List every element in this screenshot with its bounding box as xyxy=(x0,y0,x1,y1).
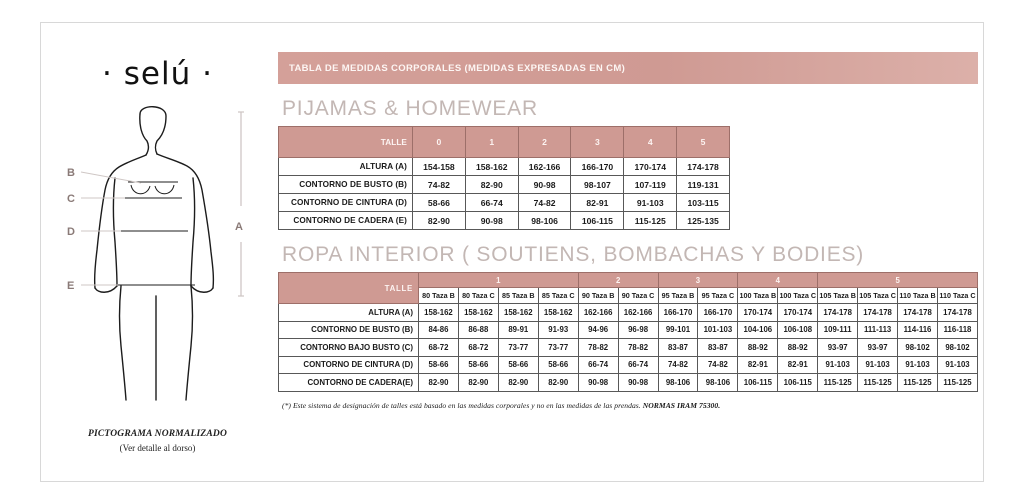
cell: 158-162 xyxy=(498,304,538,322)
cell: 90-98 xyxy=(578,374,618,392)
row-label: CONTORNO DE BUSTO (B) xyxy=(279,321,419,339)
cell: 125-135 xyxy=(677,212,730,230)
table-pijamas-corner-label: TALLE xyxy=(279,127,413,158)
cell: 82-90 xyxy=(498,374,538,392)
cell: 90-98 xyxy=(465,212,518,230)
cell: 109-111 xyxy=(818,321,858,339)
table-row: ALTURA (A) 154-158 158-162 162-166 166-1… xyxy=(279,158,730,176)
cup-header: 85 Taza C xyxy=(538,288,578,304)
cell: 91-93 xyxy=(538,321,578,339)
label-e: E xyxy=(67,280,74,292)
cell: 58-66 xyxy=(458,356,498,374)
cell: 115-125 xyxy=(818,374,858,392)
right-panel: TABLA DE MEDIDAS CORPORALES (MEDIDAS EXP… xyxy=(278,30,978,410)
cell: 93-97 xyxy=(818,339,858,357)
cup-header: 110 Taza C xyxy=(937,288,977,304)
footnote-bold: NORMAS IRAM 75300. xyxy=(643,401,721,410)
cell: 82-91 xyxy=(738,356,778,374)
cup-header: 100 Taza B xyxy=(738,288,778,304)
cell: 91-103 xyxy=(818,356,858,374)
cell: 58-66 xyxy=(498,356,538,374)
pictogram-caption: PICTOGRAMA NORMALIZADO (Ver detalle al d… xyxy=(45,428,270,455)
cell: 119-131 xyxy=(677,176,730,194)
table-ropa-interior-corner-label: TALLE xyxy=(279,273,419,304)
cell: 99-101 xyxy=(658,321,698,339)
cell: 162-166 xyxy=(618,304,658,322)
body-figure-svg: B C D E A xyxy=(45,100,270,420)
cell: 68-72 xyxy=(419,339,459,357)
cell: 66-74 xyxy=(578,356,618,374)
table-pijamas-col-5: 5 xyxy=(677,127,730,158)
cell: 158-162 xyxy=(419,304,459,322)
cell: 115-125 xyxy=(624,212,677,230)
table-pijamas-col-0: 0 xyxy=(413,127,466,158)
cell: 98-106 xyxy=(698,374,738,392)
group-header-2: 2 xyxy=(578,273,658,288)
section-title-ropa-interior: ROPA INTERIOR ( SOUTIENS, BOMBACHAS Y BO… xyxy=(282,243,978,267)
cell: 158-162 xyxy=(465,158,518,176)
pictogram-caption-main: PICTOGRAMA NORMALIZADO xyxy=(45,428,270,442)
group-header-4: 4 xyxy=(738,273,818,288)
cell: 115-125 xyxy=(898,374,938,392)
cell: 74-82 xyxy=(413,176,466,194)
table-pijamas-col-4: 4 xyxy=(624,127,677,158)
cell: 82-90 xyxy=(413,212,466,230)
cell: 106-115 xyxy=(571,212,624,230)
cell: 82-90 xyxy=(465,176,518,194)
cell: 162-166 xyxy=(518,158,571,176)
left-panel: · selú · xyxy=(45,30,270,475)
label-c: C xyxy=(67,193,75,205)
cell: 91-103 xyxy=(898,356,938,374)
cell: 170-174 xyxy=(738,304,778,322)
cell: 58-66 xyxy=(413,194,466,212)
cell: 111-113 xyxy=(858,321,898,339)
cell: 82-91 xyxy=(778,356,818,374)
row-label: CONTORNO DE BUSTO (B) xyxy=(279,176,413,194)
table-ropa-interior: TALLE 1 2 3 4 5 80 Taza B 80 Taza C 85 T… xyxy=(278,272,978,392)
footnote: (*) Este sistema de designación de talle… xyxy=(282,401,978,410)
table-row: CONTORNO DE BUSTO (B) 84-86 86-88 89-91 … xyxy=(279,321,978,339)
cell: 83-87 xyxy=(658,339,698,357)
table-row: ALTURA (A) 158-162 158-162 158-162 158-1… xyxy=(279,304,978,322)
table-row: CONTORNO DE BUSTO (B) 74-82 82-90 90-98 … xyxy=(279,176,730,194)
cell: 115-125 xyxy=(858,374,898,392)
cell: 91-103 xyxy=(858,356,898,374)
cell: 86-88 xyxy=(458,321,498,339)
table-pijamas-col-2: 2 xyxy=(518,127,571,158)
cell: 115-125 xyxy=(937,374,977,392)
cup-header: 90 Taza C xyxy=(618,288,658,304)
table-pijamas-col-3: 3 xyxy=(571,127,624,158)
cell: 91-103 xyxy=(624,194,677,212)
cell: 58-66 xyxy=(538,356,578,374)
cell: 84-86 xyxy=(419,321,459,339)
row-label: CONTORNO DE CADERA(E) xyxy=(279,374,419,392)
pictogram-figure: B C D E A xyxy=(45,100,270,400)
table-ropa-interior-group-row: TALLE 1 2 3 4 5 xyxy=(279,273,978,288)
cell: 94-96 xyxy=(578,321,618,339)
cell: 96-98 xyxy=(618,321,658,339)
cell: 174-178 xyxy=(898,304,938,322)
cell: 104-106 xyxy=(738,321,778,339)
cup-header: 80 Taza C xyxy=(458,288,498,304)
group-header-3: 3 xyxy=(658,273,738,288)
table-row: CONTORNO DE CADERA (E) 82-90 90-98 98-10… xyxy=(279,212,730,230)
table-row: CONTORNO DE CADERA(E) 82-90 82-90 82-90 … xyxy=(279,374,978,392)
cell: 89-91 xyxy=(498,321,538,339)
table-pijamas: TALLE 0 1 2 3 4 5 ALTURA (A) 154-158 158… xyxy=(278,126,730,230)
pictogram-caption-sub: (Ver detalle al dorso) xyxy=(45,442,270,455)
cell: 82-91 xyxy=(571,194,624,212)
header-banner-text: TABLA DE MEDIDAS CORPORALES (MEDIDAS EXP… xyxy=(289,63,625,74)
cell: 66-74 xyxy=(465,194,518,212)
row-label: CONTORNO DE CADERA (E) xyxy=(279,212,413,230)
cell: 78-82 xyxy=(618,339,658,357)
cell: 158-162 xyxy=(458,304,498,322)
cell: 88-92 xyxy=(738,339,778,357)
cell: 106-108 xyxy=(778,321,818,339)
cell: 82-90 xyxy=(458,374,498,392)
section-title-pijamas: PIJAMAS & HOMEWEAR xyxy=(282,97,978,121)
table-pijamas-col-1: 1 xyxy=(465,127,518,158)
cell: 93-97 xyxy=(858,339,898,357)
row-label: ALTURA (A) xyxy=(279,304,419,322)
row-label: CONTORNO DE CINTURA (D) xyxy=(279,356,419,374)
cup-header: 110 Taza B xyxy=(898,288,938,304)
cell: 74-82 xyxy=(698,356,738,374)
cell: 170-174 xyxy=(624,158,677,176)
cell: 154-158 xyxy=(413,158,466,176)
cell: 74-82 xyxy=(658,356,698,374)
row-label: CONTORNO DE CINTURA (D) xyxy=(279,194,413,212)
cell: 68-72 xyxy=(458,339,498,357)
cell: 174-178 xyxy=(858,304,898,322)
cup-header: 85 Taza B xyxy=(498,288,538,304)
label-b: B xyxy=(67,167,75,179)
cell: 82-90 xyxy=(538,374,578,392)
cell: 103-115 xyxy=(677,194,730,212)
cell: 114-116 xyxy=(898,321,938,339)
cell: 174-178 xyxy=(937,304,977,322)
size-chart-page: · selú · xyxy=(0,0,1024,504)
cell: 82-90 xyxy=(419,374,459,392)
cell: 90-98 xyxy=(618,374,658,392)
cell: 106-115 xyxy=(738,374,778,392)
row-label: CONTORNO BAJO BUSTO (C) xyxy=(279,339,419,357)
cell: 83-87 xyxy=(698,339,738,357)
table-pijamas-header-row: TALLE 0 1 2 3 4 5 xyxy=(279,127,730,158)
cell: 166-170 xyxy=(571,158,624,176)
cell: 66-74 xyxy=(618,356,658,374)
table-row: CONTORNO DE CINTURA (D) 58-66 58-66 58-6… xyxy=(279,356,978,374)
group-header-1: 1 xyxy=(419,273,579,288)
label-a: A xyxy=(235,221,243,233)
cup-header: 105 Taza C xyxy=(858,288,898,304)
cell: 166-170 xyxy=(698,304,738,322)
cell: 73-77 xyxy=(498,339,538,357)
cell: 78-82 xyxy=(578,339,618,357)
table-row: CONTORNO BAJO BUSTO (C) 68-72 68-72 73-7… xyxy=(279,339,978,357)
cell: 98-106 xyxy=(658,374,698,392)
brand-logo: · selú · xyxy=(45,56,270,92)
label-d: D xyxy=(67,226,75,238)
cell: 73-77 xyxy=(538,339,578,357)
cell: 107-119 xyxy=(624,176,677,194)
cell: 98-102 xyxy=(937,339,977,357)
cell: 166-170 xyxy=(658,304,698,322)
cell: 88-92 xyxy=(778,339,818,357)
cell: 98-102 xyxy=(898,339,938,357)
cell: 91-103 xyxy=(937,356,977,374)
cell: 106-115 xyxy=(778,374,818,392)
cup-header: 80 Taza B xyxy=(419,288,459,304)
cell: 90-98 xyxy=(518,176,571,194)
cell: 74-82 xyxy=(518,194,571,212)
cell: 101-103 xyxy=(698,321,738,339)
cup-header: 90 Taza B xyxy=(578,288,618,304)
table-row: CONTORNO DE CINTURA (D) 58-66 66-74 74-8… xyxy=(279,194,730,212)
cup-header: 100 Taza C xyxy=(778,288,818,304)
cell: 98-107 xyxy=(571,176,624,194)
cell: 174-178 xyxy=(677,158,730,176)
row-label: ALTURA (A) xyxy=(279,158,413,176)
footnote-text: (*) Este sistema de designación de talle… xyxy=(282,401,643,410)
cell: 174-178 xyxy=(818,304,858,322)
header-banner: TABLA DE MEDIDAS CORPORALES (MEDIDAS EXP… xyxy=(278,52,978,84)
cell: 158-162 xyxy=(538,304,578,322)
cell: 162-166 xyxy=(578,304,618,322)
cell: 116-118 xyxy=(937,321,977,339)
cup-header: 105 Taza B xyxy=(818,288,858,304)
cell: 170-174 xyxy=(778,304,818,322)
cell: 98-106 xyxy=(518,212,571,230)
cup-header: 95 Taza B xyxy=(658,288,698,304)
cell: 58-66 xyxy=(419,356,459,374)
group-header-5: 5 xyxy=(818,273,978,288)
cup-header: 95 Taza C xyxy=(698,288,738,304)
